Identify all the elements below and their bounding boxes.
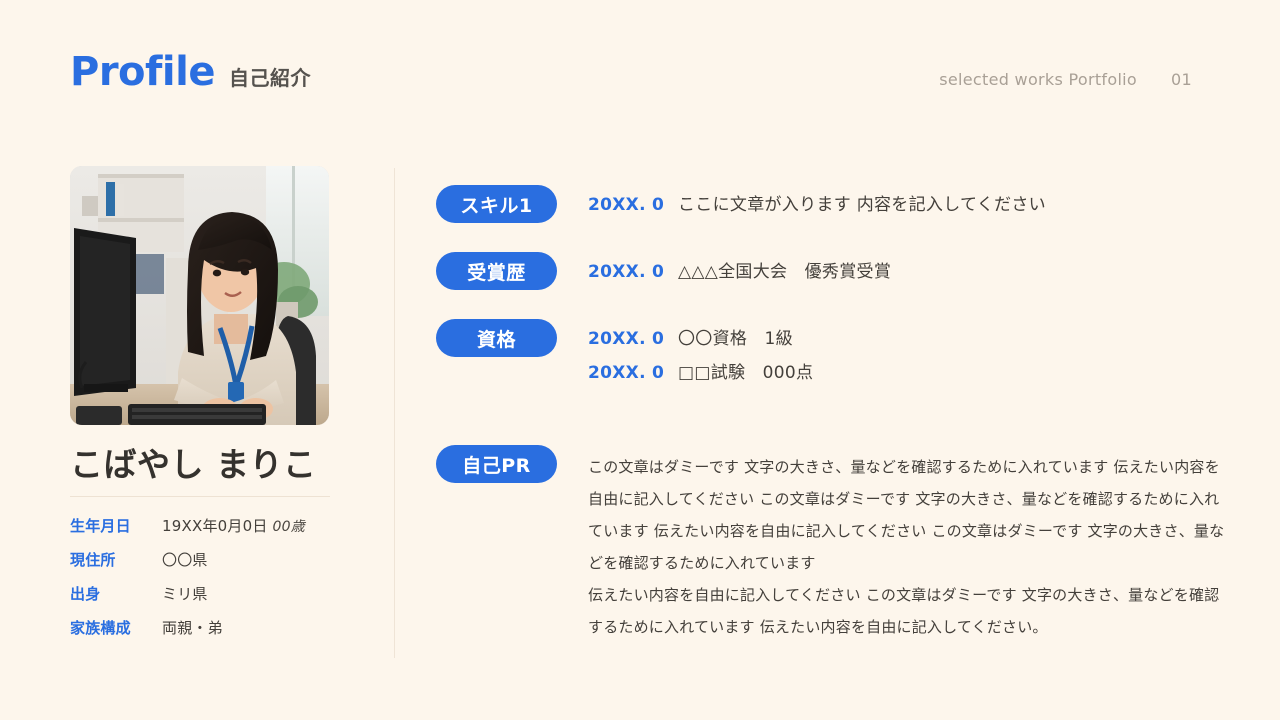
entry-date: 20XX. 0 <box>588 329 678 349</box>
entry-line: 20XX. 0 ここに文章が入ります 内容を記入してください <box>588 190 1226 215</box>
pill-license: 資格 <box>436 319 557 357</box>
entry-body-skill1: 20XX. 0 ここに文章が入ります 内容を記入してください <box>588 185 1226 215</box>
entry-license: 資格 20XX. 0 〇〇資格 1級 20XX. 0 □□試験 000点 <box>436 319 1226 383</box>
person-name: こばやし まりこ <box>70 447 330 483</box>
page-title: Profile 自己紹介 <box>70 52 311 92</box>
self-pr-paragraph: 伝えたい内容を自由に記入してください この文章はダミーです 文字の大きさ、量など… <box>588 579 1226 643</box>
fact-label-birthdate: 生年月日 <box>70 515 162 536</box>
entry-text: △△△全国大会 優秀賞受賞 <box>678 257 891 282</box>
fact-row-birthdate: 生年月日 19XX年0月0日 00歳 <box>70 515 330 536</box>
pill-award: 受賞歴 <box>436 252 557 290</box>
entry-skill1: スキル1 20XX. 0 ここに文章が入ります 内容を記入してください <box>436 185 1226 223</box>
fact-row-residence: 現住所 〇〇県 <box>70 549 330 570</box>
entry-body-self-pr: この文章はダミーです 文字の大きさ、量などを確認するために入れています 伝えたい… <box>588 445 1226 643</box>
entry-line: 20XX. 0 □□試験 000点 <box>588 358 1226 383</box>
entry-body-award: 20XX. 0 △△△全国大会 優秀賞受賞 <box>588 252 1226 282</box>
page-title-en: Profile <box>70 52 215 92</box>
fact-value-hometown: ミリ県 <box>162 583 208 604</box>
header-meta: selected works Portfolio 01 <box>939 70 1192 89</box>
fact-value-family: 両親・弟 <box>162 617 223 638</box>
entry-body-license: 20XX. 0 〇〇資格 1級 20XX. 0 □□試験 000点 <box>588 319 1226 383</box>
name-underline <box>70 496 330 497</box>
profile-photo-image <box>70 166 329 425</box>
fact-label-family: 家族構成 <box>70 617 162 638</box>
entry-award: 受賞歴 20XX. 0 △△△全国大会 優秀賞受賞 <box>436 252 1226 290</box>
fact-row-family: 家族構成 両親・弟 <box>70 617 330 638</box>
entry-line: 20XX. 0 〇〇資格 1級 <box>588 324 1226 349</box>
entry-self-pr: 自己PR この文章はダミーです 文字の大きさ、量などを確認するために入れています… <box>436 445 1226 643</box>
portfolio-label: selected works Portfolio <box>939 70 1137 89</box>
fact-label-residence: 現住所 <box>70 549 162 570</box>
entry-line: 20XX. 0 △△△全国大会 優秀賞受賞 <box>588 257 1226 282</box>
page-header: Profile 自己紹介 selected works Portfolio 01 <box>0 0 1280 140</box>
entry-date: 20XX. 0 <box>588 195 678 215</box>
fact-row-hometown: 出身 ミリ県 <box>70 583 330 604</box>
pill-self-pr: 自己PR <box>436 445 557 483</box>
fact-value-birthdate-age: 00歳 <box>273 519 305 535</box>
pill-skill1: スキル1 <box>436 185 557 223</box>
entry-text: ここに文章が入ります 内容を記入してください <box>678 190 1046 215</box>
fact-value-birthdate-text: 19XX年0月0日 <box>162 517 273 535</box>
fact-label-hometown: 出身 <box>70 583 162 604</box>
column-divider <box>394 168 395 658</box>
self-pr-paragraph: この文章はダミーです 文字の大きさ、量などを確認するために入れています 伝えたい… <box>588 451 1226 579</box>
profile-facts: 生年月日 19XX年0月0日 00歳 現住所 〇〇県 出身 ミリ県 家族構成 両… <box>70 515 330 638</box>
entry-text: 〇〇資格 1級 <box>678 324 793 349</box>
fact-value-birthdate: 19XX年0月0日 00歳 <box>162 515 305 536</box>
fact-value-residence: 〇〇県 <box>162 549 208 570</box>
page-title-ja: 自己紹介 <box>229 68 311 88</box>
entry-date: 20XX. 0 <box>588 363 678 383</box>
entry-date: 20XX. 0 <box>588 262 678 282</box>
details-column: スキル1 20XX. 0 ここに文章が入ります 内容を記入してください 受賞歴 … <box>436 166 1226 643</box>
page-number: 01 <box>1171 70 1192 89</box>
entry-text: □□試験 000点 <box>678 358 813 383</box>
profile-photo <box>70 166 329 425</box>
profile-column: こばやし まりこ 生年月日 19XX年0月0日 00歳 現住所 〇〇県 出身 ミ… <box>70 166 330 651</box>
